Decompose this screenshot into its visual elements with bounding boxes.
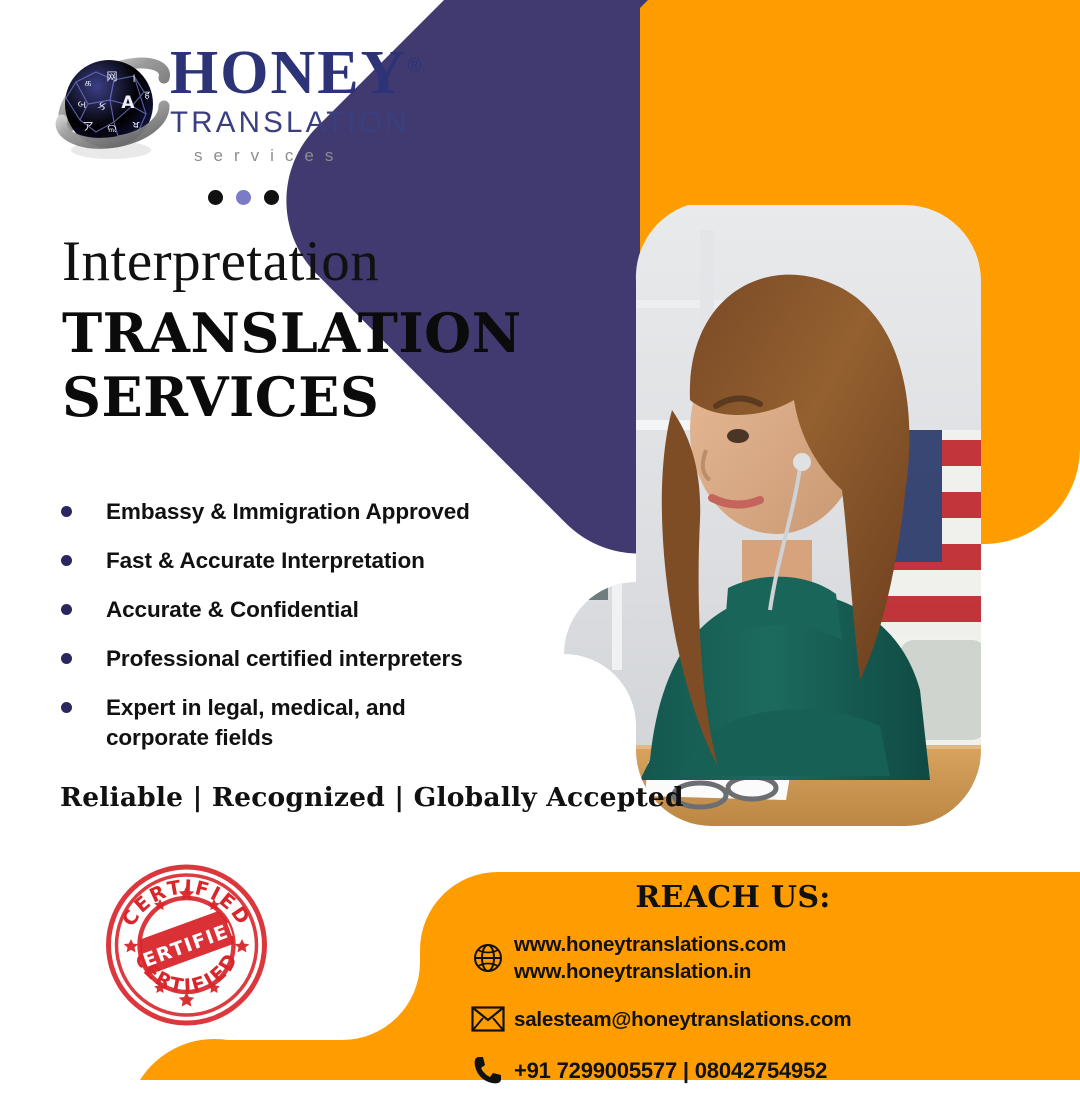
- svg-text:ଲ: ଲ: [107, 122, 117, 135]
- list-item-label: Expert in legal, medical, and corporate …: [106, 693, 456, 753]
- svg-text:ह: ह: [144, 90, 150, 101]
- bullet-icon: [61, 702, 72, 713]
- certified-stamp-icon: CERTIFIED CERTIFIED CERTIFIED: [104, 862, 269, 1027]
- globe-logo-icon: க 网 ا બ ક A ह ア ଲ ਖ: [52, 50, 170, 168]
- bullet-icon: [61, 555, 72, 566]
- svg-text:ક: ક: [97, 99, 106, 114]
- list-item: Accurate & Confidential: [55, 595, 525, 625]
- svg-text:க: க: [84, 76, 91, 89]
- bullet-icon: [61, 653, 72, 664]
- contact-section: REACH US: www.honeytranslations.com www.…: [462, 880, 1022, 1101]
- envelope-icon: [462, 999, 514, 1039]
- page-title: Interpretation TRANSLATION SERVICES: [62, 232, 532, 429]
- svg-text:બ: બ: [78, 98, 87, 111]
- contact-row-website[interactable]: www.honeytranslations.com www.honeytrans…: [462, 931, 1022, 985]
- headline-script: Interpretation: [62, 232, 532, 292]
- headline-bold: TRANSLATION SERVICES: [62, 302, 532, 429]
- contact-row-email[interactable]: salesteam@honeytranslations.com: [462, 999, 1022, 1039]
- list-item-label: Accurate & Confidential: [106, 595, 359, 625]
- list-item-label: Professional certified interpreters: [106, 644, 463, 674]
- website-2[interactable]: www.honeytranslation.in: [514, 960, 751, 983]
- list-item-label: Embassy & Immigration Approved: [106, 497, 470, 527]
- brand-wordmark: HONEY® TRANSLATION services: [170, 44, 460, 166]
- contact-heading: REACH US:: [444, 880, 1022, 915]
- globe-icon: [462, 938, 514, 978]
- bullet-icon: [61, 506, 72, 517]
- list-item: Fast & Accurate Interpretation: [55, 546, 525, 576]
- svg-text:ا: ا: [133, 74, 136, 85]
- brand-name-primary: HONEY®: [170, 44, 460, 104]
- dot-1: [208, 190, 223, 205]
- tagline: Reliable | Recognized | Globally Accepte…: [60, 782, 684, 813]
- headline-line-1: TRANSLATION: [62, 302, 532, 366]
- list-item: Embassy & Immigration Approved: [55, 497, 525, 527]
- feature-list: Embassy & Immigration Approved Fast & Ac…: [55, 497, 525, 772]
- dot-3: [264, 190, 279, 205]
- bullet-icon: [61, 604, 72, 615]
- website-1[interactable]: www.honeytranslations.com: [514, 933, 786, 956]
- brand-name-secondary: TRANSLATION: [170, 106, 460, 140]
- list-item: Expert in legal, medical, and corporate …: [55, 693, 525, 753]
- brand-name-tertiary: services: [170, 146, 460, 166]
- decorative-dots: [208, 190, 279, 205]
- registered-mark: ®: [407, 55, 421, 76]
- phone-icon: [462, 1050, 514, 1090]
- svg-text:ア: ア: [83, 120, 94, 133]
- svg-text:网: 网: [107, 70, 118, 83]
- list-item: Professional certified interpreters: [55, 644, 525, 674]
- svg-text:A: A: [121, 93, 135, 113]
- headline-line-2: SERVICES: [62, 366, 532, 430]
- phone-numbers[interactable]: +91 7299005577 | 08042754952: [514, 1056, 827, 1085]
- contact-row-phone[interactable]: +91 7299005577 | 08042754952: [462, 1050, 1022, 1090]
- brand-logo[interactable]: க 网 ا બ ક A ह ア ଲ ਖ HONEY® TRANSLATION s…: [52, 44, 452, 174]
- dot-2: [236, 190, 251, 205]
- list-item-label: Fast & Accurate Interpretation: [106, 546, 425, 576]
- email-address[interactable]: salesteam@honeytranslations.com: [514, 1006, 851, 1033]
